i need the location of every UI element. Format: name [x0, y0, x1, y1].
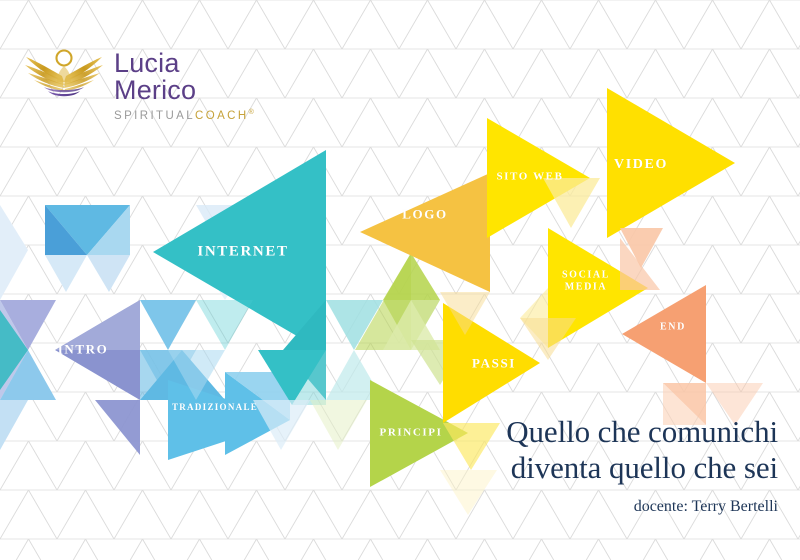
accent-triangle-blue	[140, 300, 196, 350]
end-triangle	[622, 285, 706, 383]
accent-triangle-amber-pale	[520, 318, 576, 360]
video-triangle	[607, 88, 735, 238]
accent-triangle-pale-blue	[0, 205, 28, 300]
accent-triangle-blue-light	[0, 400, 28, 450]
logo-triangle	[360, 173, 490, 292]
accent-triangle-blue-pale	[45, 255, 87, 292]
brand-tagline-primary: SPIRITUAL	[114, 110, 195, 122]
accent-triangle-periwinkle-light	[55, 300, 140, 350]
presenter-subtitle: docente: Terry Bertelli	[506, 498, 778, 516]
accent-triangle-teal	[196, 300, 253, 350]
brand-wordmark: Lucia Merico SPIRITUALCOACH®	[114, 50, 258, 122]
accent-triangle-yellow	[443, 423, 500, 470]
brand-tagline-secondary: COACH	[195, 110, 249, 122]
brand-name: Lucia Merico	[114, 50, 258, 104]
accent-triangle-yellow-pale	[543, 178, 600, 228]
accent-triangle-green-pale	[310, 400, 367, 450]
registered-mark-icon: ®	[249, 109, 257, 116]
headline-block: Quello che comunichi diventa quello che …	[506, 414, 778, 516]
accent-triangle-blue-pale	[87, 255, 130, 292]
accent-triangle-yellow-pale	[440, 470, 497, 515]
brand-tagline: SPIRITUALCOACH®	[114, 109, 258, 122]
brand-logo: Lucia Merico SPIRITUALCOACH®	[18, 38, 258, 108]
intro-triangle-lower	[95, 400, 140, 455]
presentation-cover-slide: INTRO TRADIZIONALE INTERNET PRINCIPI PAS…	[0, 0, 800, 560]
headline-line-2: diventa quello che sei	[506, 450, 778, 486]
winged-halo-icon	[18, 38, 110, 104]
headline-line-1: Quello che comunichi	[506, 414, 778, 450]
